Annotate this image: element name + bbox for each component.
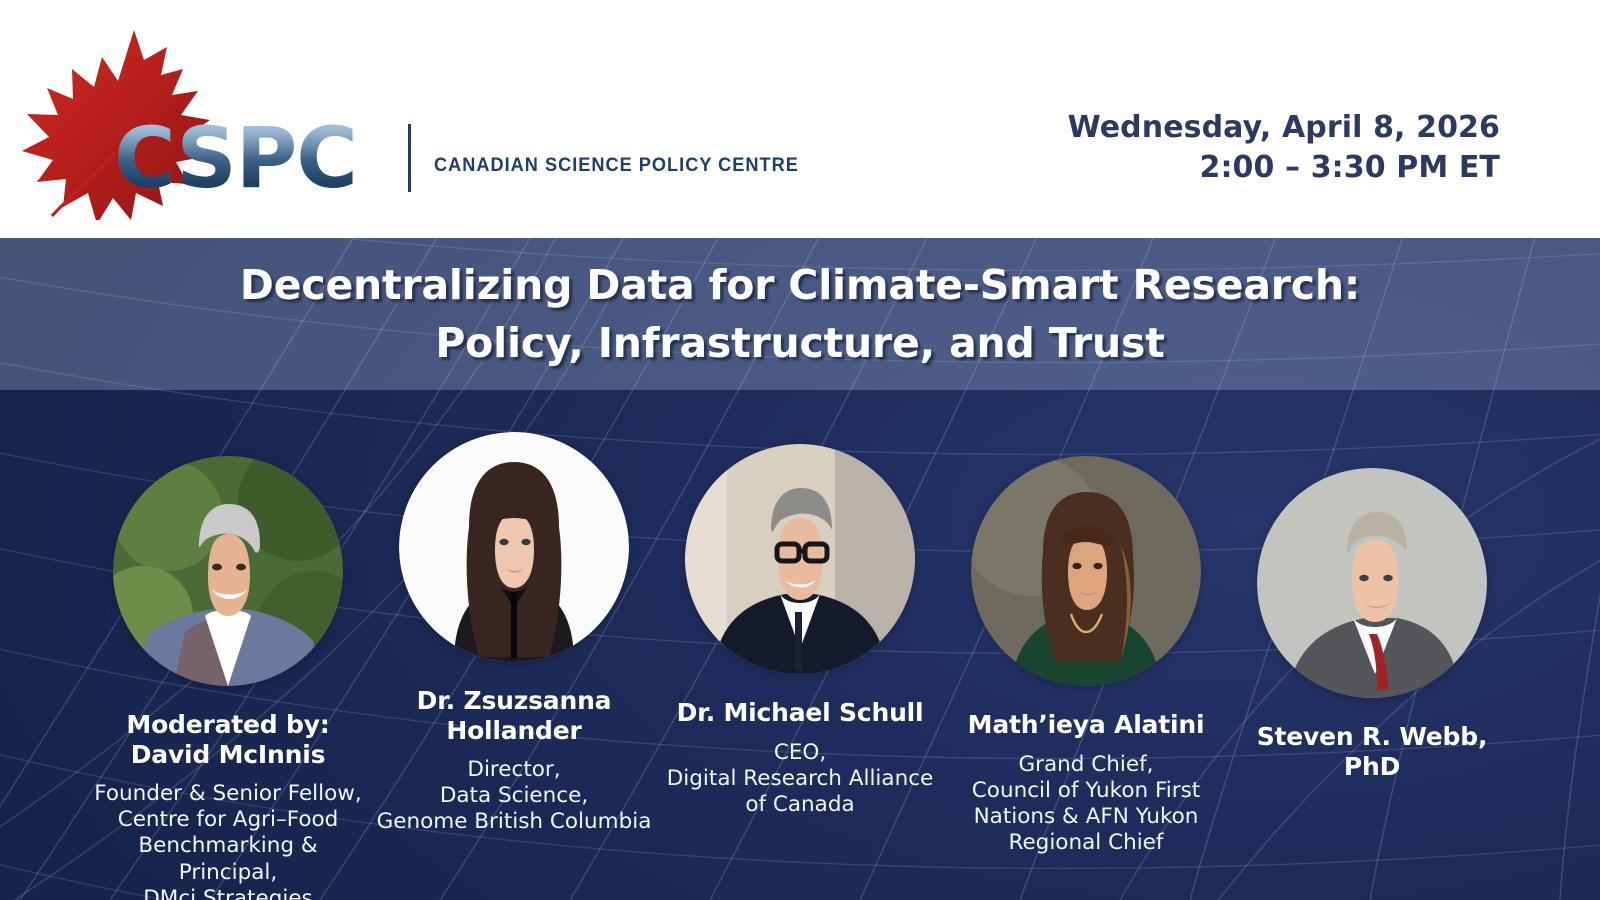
cspc-wordmark: CSPC (114, 116, 357, 200)
logo-tagline: CANADIAN SCIENCE POLICY CENTRE (434, 154, 799, 177)
portrait-steven-r-webb (1257, 468, 1487, 698)
event-title: Decentralizing Data for Climate-Smart Re… (200, 256, 1400, 372)
speaker-title: Grand Chief, Council of Yukon First Nati… (972, 752, 1200, 857)
speaker-card: Dr. Michael Schull CEO, Digital Research… (657, 396, 943, 818)
speaker-card: Dr. Zsuzsanna Hollander Director, Data S… (371, 396, 657, 836)
event-date: Wednesday, April 8, 2026 (1068, 108, 1500, 148)
title-banner: Decentralizing Data for Climate-Smart Re… (0, 238, 1600, 390)
logo-divider (408, 124, 411, 192)
speaker-name: Moderated by: David McInnis (126, 710, 329, 769)
portrait-zsuzsanna-hollander (399, 432, 629, 662)
event-time: 2:00 – 3:30 PM ET (1068, 148, 1500, 188)
portrait-michael-schull (685, 444, 915, 674)
poster-header: CSPC CANADIAN SCIENCE POLICY CENTRE Wedn… (0, 0, 1600, 238)
speaker-card: Moderated by: David McInnis Founder & Se… (85, 396, 371, 900)
portrait-david-mcinnis (113, 456, 343, 686)
speaker-card: Mathʼieya Alatini Grand Chief, Council o… (943, 396, 1229, 856)
cspc-logo[interactable]: CSPC CANADIAN SCIENCE POLICY CENTRE (22, 20, 782, 220)
speaker-name: Steven R. Webb, PhD (1229, 722, 1515, 781)
speaker-list: Moderated by: David McInnis Founder & Se… (0, 396, 1600, 900)
speaker-title: Director, Data Science, Genome British C… (377, 757, 652, 836)
speaker-name: Mathʼieya Alatini (968, 710, 1205, 740)
speaker-name: Dr. Michael Schull (677, 698, 924, 728)
event-datetime: Wednesday, April 8, 2026 2:00 – 3:30 PM … (1068, 108, 1500, 188)
speaker-name: Dr. Zsuzsanna Hollander (417, 686, 612, 745)
speaker-title: CEO, Digital Research Alliance of Canada (667, 740, 934, 819)
event-promo-poster: Decentralizing Data for Climate-Smart Re… (0, 0, 1600, 900)
speaker-title: Founder & Senior Fellow, Centre for Agri… (94, 781, 361, 900)
speaker-card: Steven R. Webb, PhD (1229, 396, 1515, 793)
portrait-mathieya-alatini (971, 456, 1201, 686)
